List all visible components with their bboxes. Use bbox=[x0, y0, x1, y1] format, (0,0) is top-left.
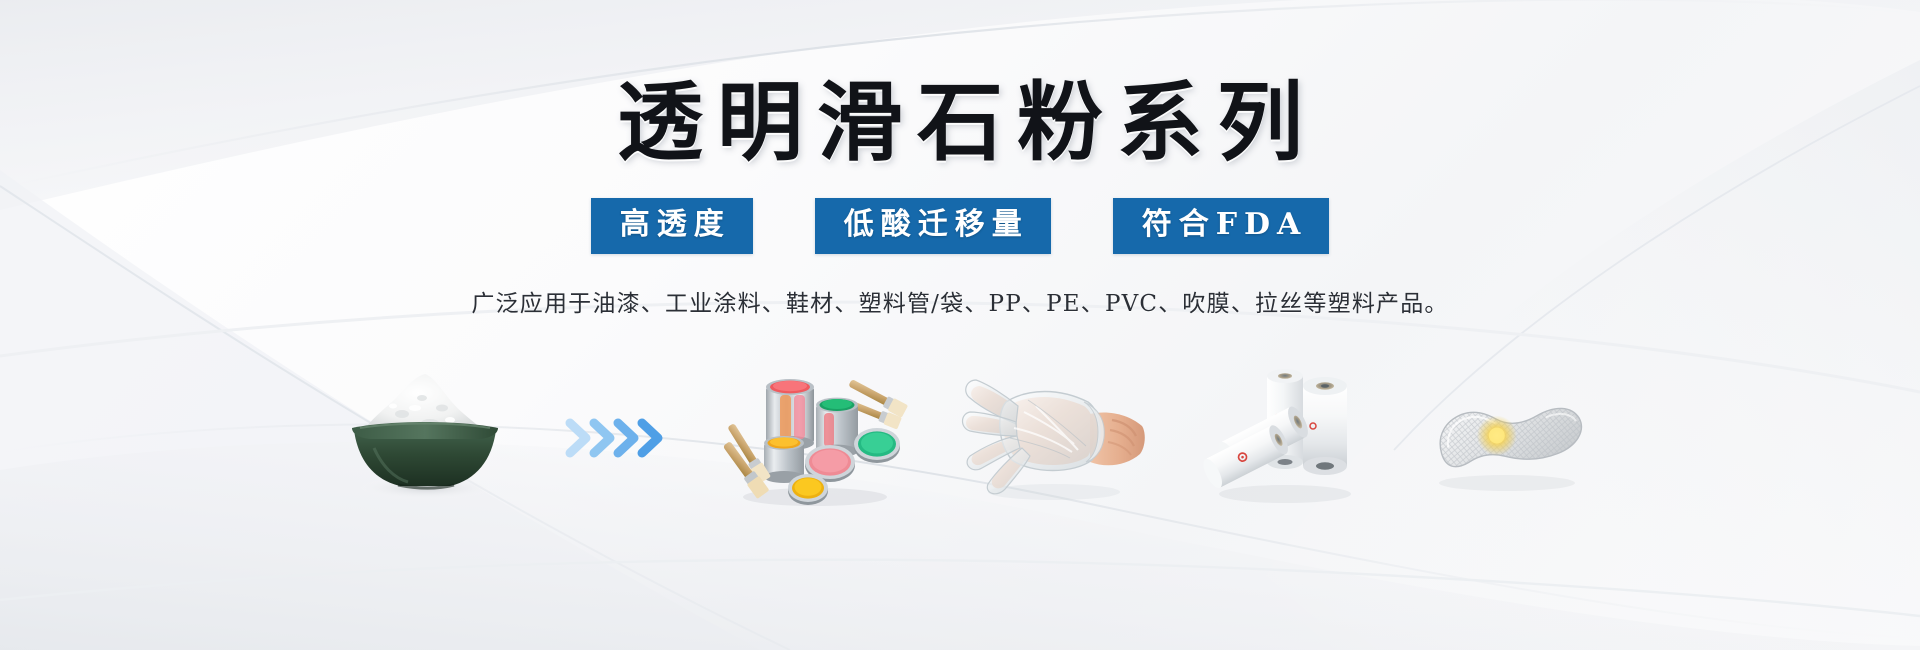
badge-fda-compliant[interactable]: 符合FDA bbox=[1113, 198, 1330, 253]
talc-powder-bowl-image bbox=[330, 363, 520, 513]
banner-subtitle: 广泛应用于油漆、工业涂料、鞋材、塑料管/袋、PP、PE、PVC、吹膜、拉丝等塑料… bbox=[471, 284, 1448, 318]
shoe-sole-image bbox=[1421, 363, 1591, 513]
plastic-film-rolls-image bbox=[1199, 363, 1369, 513]
badge-high-transparency[interactable]: 高透度 bbox=[591, 198, 753, 253]
paint-cans-image bbox=[720, 363, 910, 513]
banner-title: 透明滑石粉系列 bbox=[603, 78, 1317, 168]
process-arrows-icon bbox=[564, 408, 676, 468]
feature-badge-row: 高透度 低酸迁移量 符合FDA bbox=[591, 198, 1330, 253]
application-image-strip bbox=[0, 363, 1920, 513]
product-banner: 透明滑石粉系列 高透度 低酸迁移量 符合FDA 广泛应用于油漆、工业涂料、鞋材、… bbox=[0, 0, 1920, 650]
badge-low-acid-migration[interactable]: 低酸迁移量 bbox=[815, 198, 1051, 253]
gloved-hand-image bbox=[962, 363, 1147, 513]
banner-content: 透明滑石粉系列 高透度 低酸迁移量 符合FDA 广泛应用于油漆、工业涂料、鞋材、… bbox=[0, 0, 1920, 650]
